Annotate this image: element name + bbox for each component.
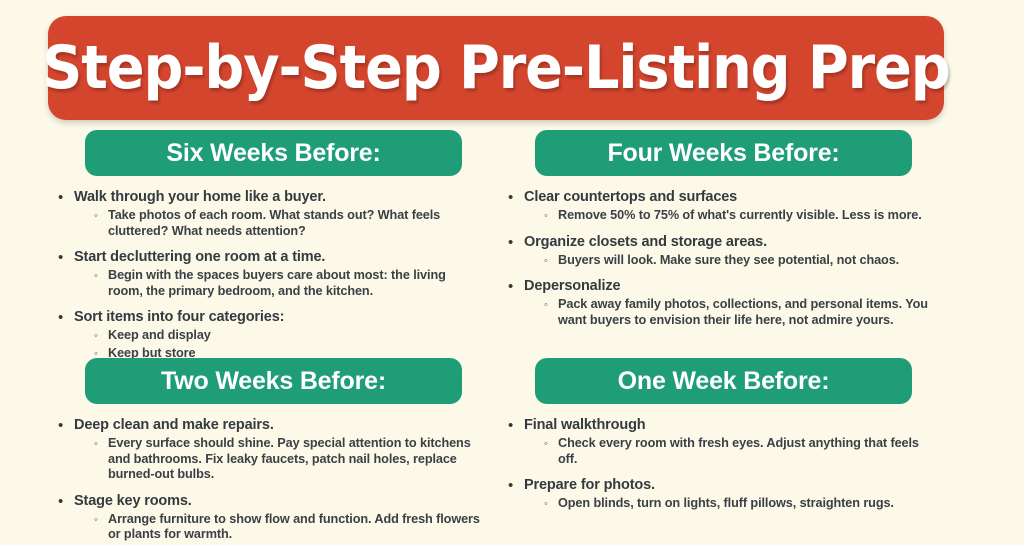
title-banner: Step-by-Step Pre-Listing Prep <box>48 16 944 120</box>
section-header-one-week-before: One Week Before: <box>535 358 912 404</box>
list-item-label: Start decluttering one room at a time. <box>74 249 325 265</box>
sub-list-item: ◦ Keep and display <box>94 328 480 346</box>
bullet-icon: • <box>58 248 63 267</box>
checklist-level2: ◦ Check every room with fresh eyes. Adju… <box>524 436 930 469</box>
sub-bullet-icon: ◦ <box>544 208 548 225</box>
list-item: • Deep clean and make repairs. ◦ Every s… <box>56 416 480 485</box>
list-item: • Prepare for photos. ◦ Open blinds, tur… <box>506 476 930 514</box>
checklist-level1: • Deep clean and make repairs. ◦ Every s… <box>56 416 480 545</box>
checklist-level2: ◦ Buyers will look. Make sure they see p… <box>524 253 930 271</box>
list-item: • Walk through your home like a buyer. ◦… <box>56 188 480 241</box>
list-item-label: Sort items into four categories: <box>74 309 284 325</box>
list-item-label: Clear countertops and surfaces <box>524 189 737 205</box>
checklist-level2: ◦ Open blinds, turn on lights, fluff pil… <box>524 496 930 514</box>
list-item: • Start decluttering one room at a time.… <box>56 248 480 301</box>
section-header-two-weeks-before: Two Weeks Before: <box>85 358 462 404</box>
section-heading-label: Six Weeks Before: <box>166 141 380 166</box>
checklist-level1: • Final walkthrough ◦ Check every room w… <box>506 416 930 514</box>
list-item: • Final walkthrough ◦ Check every room w… <box>506 416 930 469</box>
section-heading-label: One Week Before: <box>618 369 830 394</box>
sub-list-item: ◦ Begin with the spaces buyers care abou… <box>94 268 480 301</box>
sub-bullet-icon: ◦ <box>94 268 98 285</box>
list-item: • Clear countertops and surfaces ◦ Remov… <box>506 188 930 226</box>
bullet-icon: • <box>58 308 63 327</box>
bullet-icon: • <box>508 416 513 435</box>
section-one-week-before: One Week Before: • Final walkthrough ◦ C… <box>488 358 934 514</box>
sub-list-item: ◦ Remove 50% to 75% of what's currently … <box>544 208 930 226</box>
list-item-label: Stage key rooms. <box>74 493 192 509</box>
list-item-label: Organize closets and storage areas. <box>524 234 767 250</box>
list-item-label: Prepare for photos. <box>524 477 655 493</box>
bullet-icon: • <box>58 416 63 435</box>
section-header-four-weeks-before: Four Weeks Before: <box>535 130 912 176</box>
sub-list-item: ◦ Open blinds, turn on lights, fluff pil… <box>544 496 930 514</box>
list-item-label: Deep clean and make repairs. <box>74 417 274 433</box>
sub-bullet-icon: ◦ <box>94 512 98 529</box>
checklist-level2: ◦ Begin with the spaces buyers care abou… <box>74 268 480 301</box>
sub-bullet-icon: ◦ <box>544 436 548 453</box>
sub-list-item: ◦ Pack away family photos, collections, … <box>544 297 930 330</box>
sub-bullet-icon: ◦ <box>544 253 548 270</box>
bullet-icon: • <box>58 492 63 511</box>
bullet-icon: • <box>508 476 513 495</box>
list-item-label: Depersonalize <box>524 278 620 294</box>
sub-bullet-icon: ◦ <box>94 436 98 453</box>
sub-bullet-icon: ◦ <box>544 297 548 314</box>
sub-list-item-label: Check every room with fresh eyes. Adjust… <box>558 436 930 469</box>
checklist-level2: ◦ Pack away family photos, collections, … <box>524 297 930 330</box>
page-title: Step-by-Step Pre-Listing Prep <box>42 38 949 98</box>
section-two-weeks-before: Two Weeks Before: • Deep clean and make … <box>38 358 484 545</box>
bullet-icon: • <box>508 233 513 252</box>
section-header-six-weeks-before: Six Weeks Before: <box>85 130 462 176</box>
sub-list-item-label: Open blinds, turn on lights, fluff pillo… <box>558 496 930 514</box>
sections-grid: Six Weeks Before: • Walk through your ho… <box>0 130 1024 540</box>
bullet-icon: • <box>508 188 513 207</box>
list-item: • Stage key rooms. ◦ Arrange furniture t… <box>56 492 480 545</box>
checklist-level1: • Clear countertops and surfaces ◦ Remov… <box>506 188 930 330</box>
sub-list-item: ◦ Take photos of each room. What stands … <box>94 208 480 241</box>
sub-list-item: ◦ Buyers will look. Make sure they see p… <box>544 253 930 271</box>
sub-list-item-label: Every surface should shine. Pay special … <box>108 436 480 485</box>
list-item: • Depersonalize ◦ Pack away family photo… <box>506 277 930 330</box>
sub-list-item-label: Keep and display <box>108 328 480 346</box>
sub-list-item-label: Buyers will look. Make sure they see pot… <box>558 253 930 271</box>
checklist-level2: ◦ Every surface should shine. Pay specia… <box>74 436 480 485</box>
list-item-label: Final walkthrough <box>524 417 646 433</box>
section-four-weeks-before: Four Weeks Before: • Clear countertops a… <box>488 130 934 330</box>
sub-list-item-label: Pack away family photos, collections, an… <box>558 297 930 330</box>
sub-list-item-label: Take photos of each room. What stands ou… <box>108 208 480 241</box>
sub-bullet-icon: ◦ <box>94 328 98 345</box>
list-item-label: Walk through your home like a buyer. <box>74 189 326 205</box>
section-body-one-week-before: • Final walkthrough ◦ Check every room w… <box>488 416 934 514</box>
sub-list-item: ◦ Check every room with fresh eyes. Adju… <box>544 436 930 469</box>
list-item: • Organize closets and storage areas. ◦ … <box>506 233 930 271</box>
bullet-icon: • <box>508 277 513 296</box>
bullet-icon: • <box>58 188 63 207</box>
sub-list-item-label: Remove 50% to 75% of what's currently vi… <box>558 208 930 226</box>
checklist-level2: ◦ Take photos of each room. What stands … <box>74 208 480 241</box>
sub-list-item: ◦ Every surface should shine. Pay specia… <box>94 436 480 485</box>
section-heading-label: Two Weeks Before: <box>161 369 386 394</box>
sub-list-item-label: Begin with the spaces buyers care about … <box>108 268 480 301</box>
sub-bullet-icon: ◦ <box>94 208 98 225</box>
section-body-four-weeks-before: • Clear countertops and surfaces ◦ Remov… <box>488 188 934 330</box>
checklist-level2: ◦ Remove 50% to 75% of what's currently … <box>524 208 930 226</box>
section-body-two-weeks-before: • Deep clean and make repairs. ◦ Every s… <box>38 416 484 545</box>
sub-bullet-icon: ◦ <box>544 496 548 513</box>
infographic-root: Step-by-Step Pre-Listing Prep Six Weeks … <box>0 0 1024 540</box>
section-heading-label: Four Weeks Before: <box>607 141 839 166</box>
